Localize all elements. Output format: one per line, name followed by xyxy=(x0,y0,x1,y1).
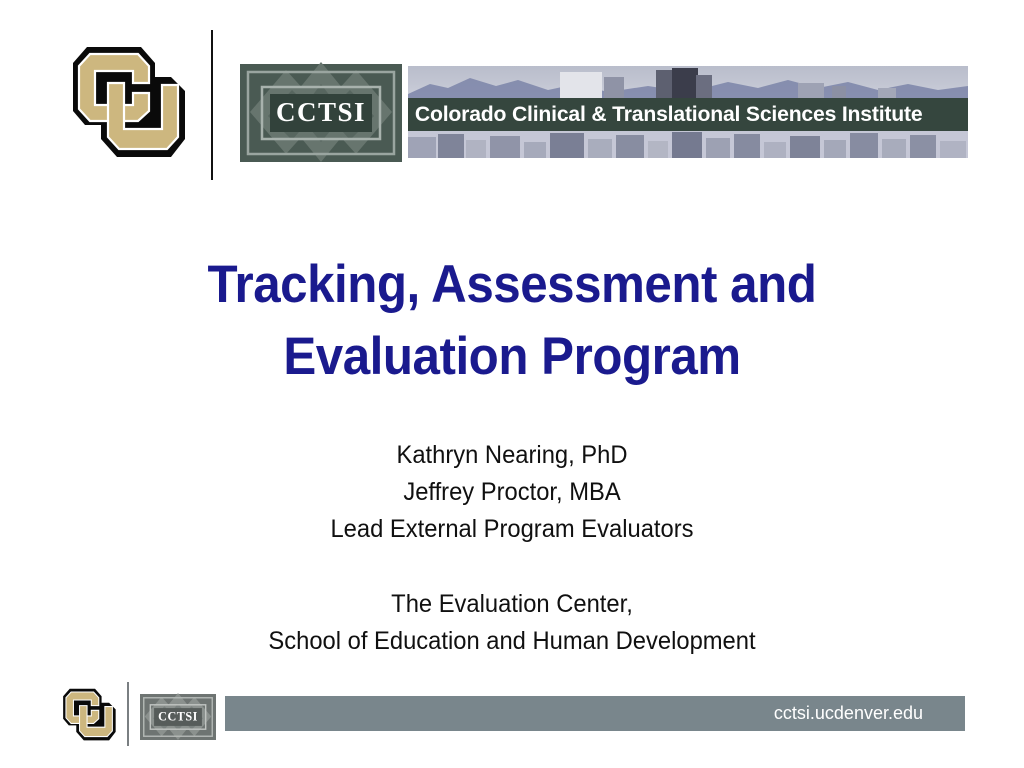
affiliation-line-1: The Evaluation Center, xyxy=(26,586,999,623)
footer-url-text[interactable]: cctsi.ucdenver.edu xyxy=(774,703,965,724)
footer-cctsi-emblem-icon: CCTSI xyxy=(140,689,216,745)
footer-url-bar: cctsi.ucdenver.edu xyxy=(225,696,965,731)
slide-subtitle: Kathryn Nearing, PhD Jeffrey Proctor, MB… xyxy=(0,437,1024,660)
cctsi-banner-image: Colorado Clinical & Translational Scienc… xyxy=(408,66,968,158)
presenter-line-1: Kathryn Nearing, PhD xyxy=(26,437,999,474)
skyline-upper-icon xyxy=(408,66,968,100)
banner-title-band: Colorado Clinical & Translational Scienc… xyxy=(408,98,968,131)
title-line-1: Tracking, Assessment and xyxy=(36,249,988,321)
skyline-lower xyxy=(408,131,968,158)
affiliation-line-2: School of Education and Human Developmen… xyxy=(26,623,999,660)
presentation-slide: CCTSI Colorado Clinical & Translational … xyxy=(0,0,1024,768)
cctsi-emblem-label: CCTSI xyxy=(276,97,366,127)
footer-divider xyxy=(127,682,129,746)
banner-title-text: Colorado Clinical & Translational Scienc… xyxy=(408,102,922,127)
skyline-lower-icon xyxy=(408,131,968,158)
title-line-2: Evaluation Program xyxy=(36,321,988,393)
header-divider xyxy=(211,30,213,180)
footer-cu-logo-icon xyxy=(50,679,118,751)
subtitle-spacer xyxy=(0,548,1024,586)
cu-logo-icon xyxy=(45,33,190,173)
presenter-role: Lead External Program Evaluators xyxy=(26,511,999,548)
slide-header: CCTSI Colorado Clinical & Translational … xyxy=(0,0,1024,200)
footer-cctsi-emblem-label: CCTSI xyxy=(158,710,198,724)
presenter-line-2: Jeffrey Proctor, MBA xyxy=(26,474,999,511)
cctsi-emblem-icon: CCTSI xyxy=(240,60,402,166)
slide-title: Tracking, Assessment and Evaluation Prog… xyxy=(0,249,1024,393)
